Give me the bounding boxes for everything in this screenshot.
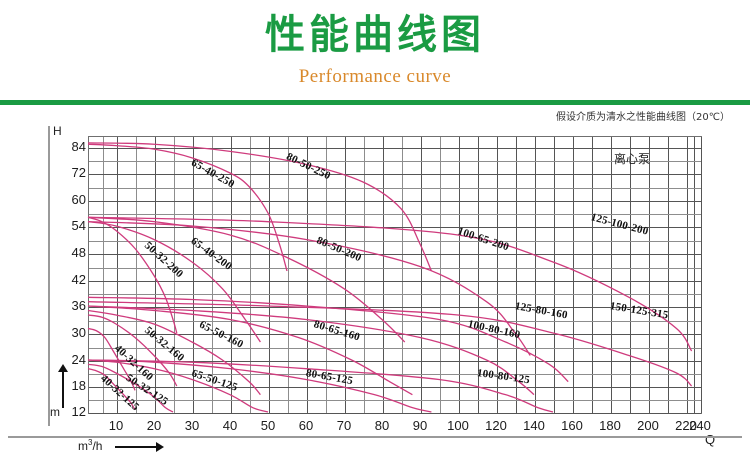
grid-line-v — [701, 137, 702, 413]
pump-curve — [88, 143, 431, 271]
performance-curve-page: 性能曲线图 Performance curve 假设介质为清水之性能曲线图（20… — [0, 0, 750, 469]
x-tick-label: 60 — [299, 418, 313, 433]
pump-curve — [88, 217, 177, 333]
x-axis-arrow-icon — [115, 446, 157, 448]
x-tick-label: 30 — [185, 418, 199, 433]
page-title-cn: 性能曲线图 — [0, 12, 750, 58]
x-tick-label: 180 — [599, 418, 621, 433]
y-tick-label: 84 — [58, 139, 86, 154]
pump-curve — [88, 144, 287, 271]
footer-divider — [8, 436, 742, 438]
y-tick-label: 36 — [58, 298, 86, 313]
x-tick-label: 140 — [523, 418, 545, 433]
x-tick-label: 90 — [413, 418, 427, 433]
x-tick-label: 100 — [447, 418, 469, 433]
chart-area: H m 8472605448423630241812 65-40-25080-5… — [0, 122, 750, 437]
x-tick-label: 240 — [689, 418, 711, 433]
x-axis-symbol: Q — [705, 432, 715, 447]
y-tick-label: 48 — [58, 245, 86, 260]
pump-type-note: 离心泵 — [614, 150, 650, 167]
y-tick-label: 60 — [58, 192, 86, 207]
x-tick-label: 10 — [109, 418, 123, 433]
x-tick-labels: 1020304050607080901001201401601802002202… — [0, 418, 750, 436]
y-tick-label: 24 — [58, 352, 86, 367]
y-tick-label: 18 — [58, 378, 86, 393]
y-tick-label: 30 — [58, 325, 86, 340]
x-tick-label: 160 — [561, 418, 583, 433]
y-tick-label: 42 — [58, 272, 86, 287]
y-tick-label: 72 — [58, 165, 86, 180]
page-header: 性能曲线图 Performance curve — [0, 0, 750, 112]
x-tick-label: 50 — [261, 418, 275, 433]
x-tick-label: 80 — [375, 418, 389, 433]
x-axis-unit: m3/h — [78, 438, 102, 453]
page-title-en: Performance curve — [0, 66, 750, 88]
pump-curve — [88, 306, 534, 395]
y-tick-label: 12 — [58, 404, 86, 419]
x-tick-label: 40 — [223, 418, 237, 433]
chart-caption: 假设介质为清水之性能曲线图（20℃） — [556, 108, 730, 123]
y-tick-labels: 8472605448423630241812 — [50, 122, 86, 432]
grid-line-h — [89, 413, 701, 414]
x-tick-label: 120 — [485, 418, 507, 433]
x-tick-label: 20 — [147, 418, 161, 433]
x-tick-label: 200 — [637, 418, 659, 433]
x-tick-label: 70 — [337, 418, 351, 433]
header-divider — [0, 100, 750, 105]
pump-curve — [88, 302, 692, 386]
y-tick-label: 54 — [58, 218, 86, 233]
